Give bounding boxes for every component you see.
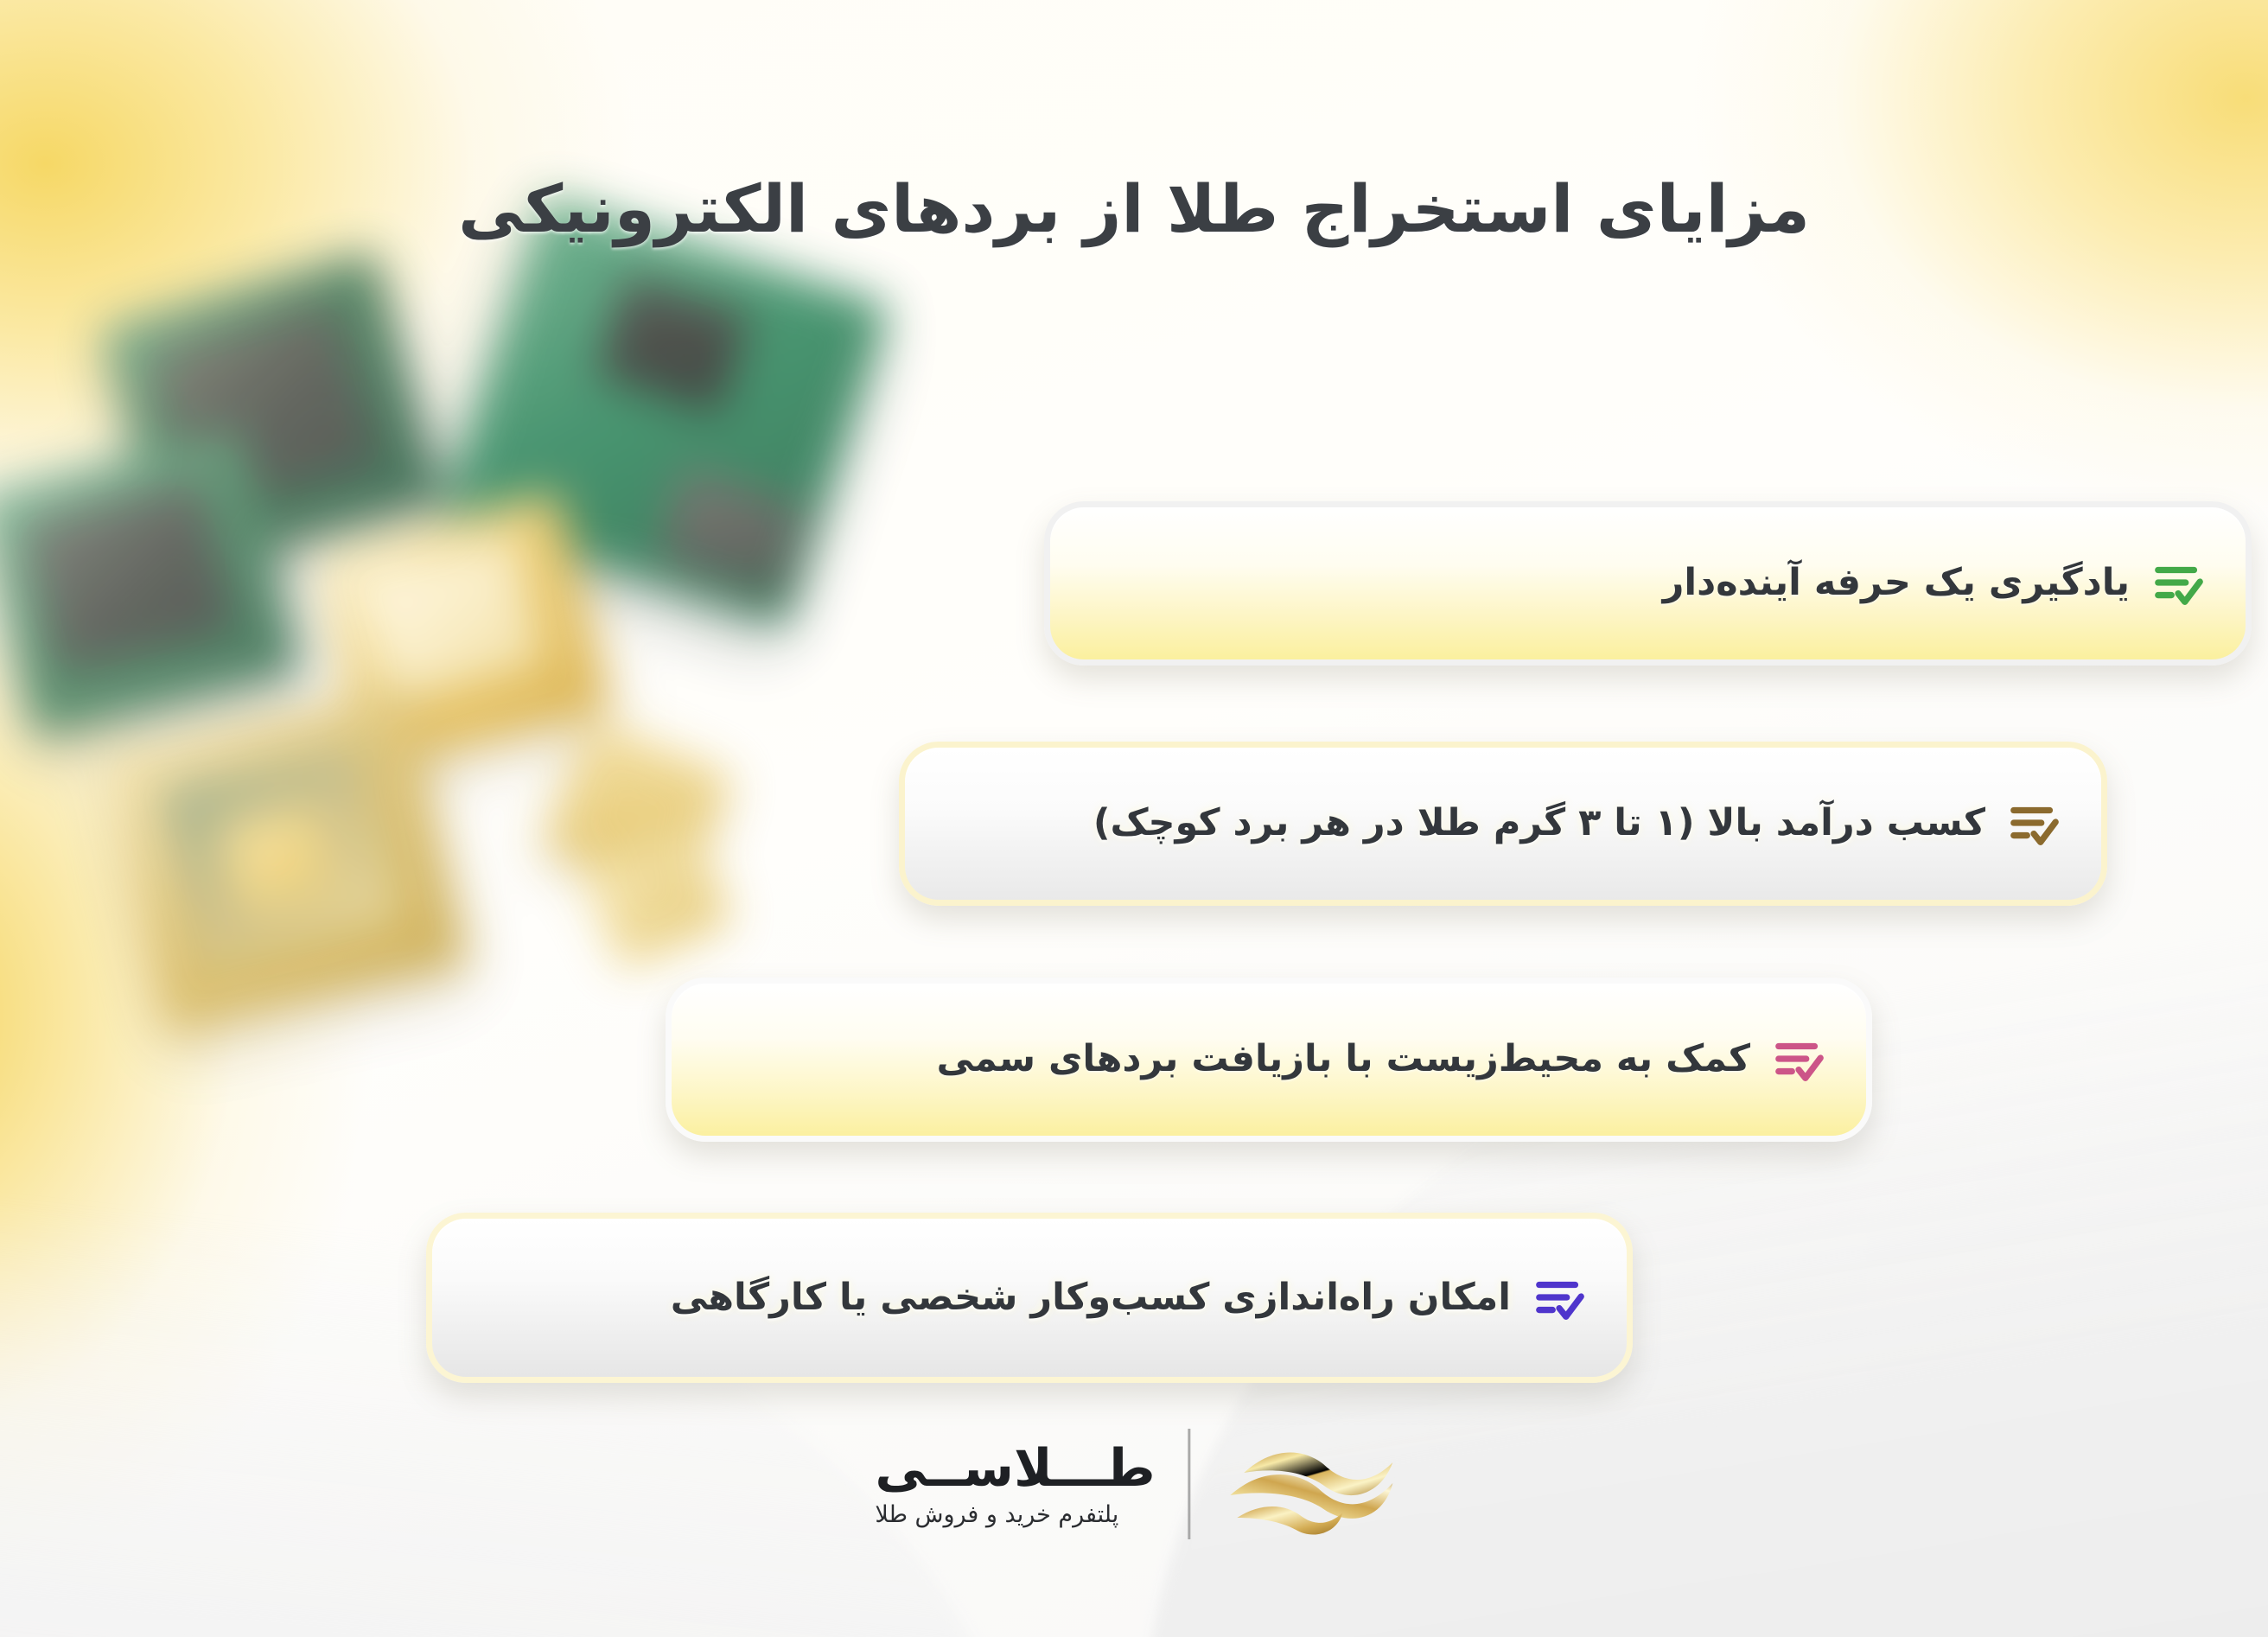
benefit-label: کمک به محیط‌زیست با بازیافت بردهای سمی (936, 1037, 1750, 1082)
gold-plated-chip (101, 686, 468, 1035)
gold-wave-logo-icon (1224, 1428, 1423, 1540)
benefit-card-own-business[interactable]: امکان راه‌اندازی کسب‌وکار شخصی یا کارگاه… (426, 1213, 1633, 1383)
benefit-card-future-career[interactable]: یادگیری یک حرفه آینده‌دار (1044, 501, 2252, 666)
checklist-check-icon (2008, 797, 2061, 850)
benefit-card-environment[interactable]: کمک به محیط‌زیست با بازیافت بردهای سمی (666, 978, 1872, 1142)
logo-divider (1188, 1429, 1191, 1539)
chip-module (654, 467, 807, 597)
checklist-check-icon (2152, 557, 2206, 610)
page-title: مزایای استخراج طلا از بردهای الکترونیکی (0, 167, 2268, 251)
electronic-chips-photo (0, 259, 942, 1020)
benefit-label: یادگیری یک حرفه آینده‌دار (1663, 561, 2130, 606)
checklist-check-icon (1533, 1271, 1587, 1325)
benefit-card-high-income[interactable]: کسب درآمد بالا (۱ تا ۳ گرم طلا در هر برد… (899, 742, 2107, 906)
brand-wordmark: طـــلاســی پلتفرم خرید و فروش طلا (845, 1443, 1155, 1526)
benefit-label: امکان راه‌اندازی کسب‌وکار شخصی یا کارگاه… (671, 1276, 1511, 1321)
chip-die (355, 538, 546, 704)
chip-die (22, 482, 235, 673)
benefit-label: کسب درآمد بالا (۱ تا ۳ گرم طلا در هر برد… (1093, 801, 1985, 846)
brand-tagline: پلتفرم خرید و فروش طلا (875, 1503, 1118, 1526)
checklist-check-icon (1773, 1033, 1826, 1086)
brand-lockup: طـــلاســی پلتفرم خرید و فروش طلا (845, 1428, 1422, 1540)
brand-name: طـــلاســی (875, 1443, 1155, 1494)
infographic-canvas: مزایای استخراج طلا از بردهای الکترونیکی … (0, 0, 2268, 1637)
chip-die (596, 276, 751, 414)
